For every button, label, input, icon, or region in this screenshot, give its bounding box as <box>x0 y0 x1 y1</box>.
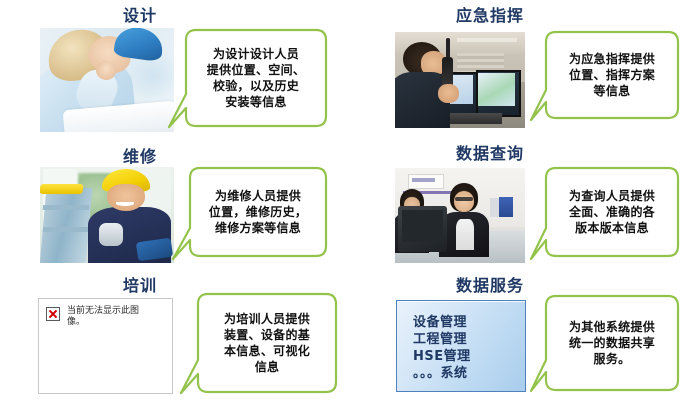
systems-list-item: 工程管理 <box>413 331 525 348</box>
bubble-emergency: 为应急指挥提供 位置、指挥方案 等信息 <box>530 30 680 122</box>
bubble-dataquery: 为查询人员提供 全面、准确的各 版本版本信息 <box>530 166 680 260</box>
bubble-training: 为培训人员提供 装置、设备的基 本信息、可视化 信息 <box>180 292 338 396</box>
broken-image-placeholder-training: 当前无法显示此图像。 <box>38 298 173 394</box>
systems-list-item: 。。。系统 <box>413 365 525 382</box>
bubble-maintenance: 为维修人员提供 位置，维修历史， 维修方案等信息 <box>172 166 328 260</box>
bubble-text-maintenance: 为维修人员提供 位置，维修历史， 维修方案等信息 <box>192 168 324 256</box>
cell-title-emergency: 应急指挥 <box>428 2 552 26</box>
cell-title-design: 设计 <box>78 2 202 26</box>
bubble-text-design: 为设计设计人员 提供位置、空间、 校验，以及历史 安装等信息 <box>188 30 324 126</box>
diagram-canvas: 设计 为设计设计人员 提供位置、空间、 校验，以及历史 安装等信息 应急指挥 为… <box>0 0 681 400</box>
bubble-design: 为设计设计人员 提供位置、空间、 校验，以及历史 安装等信息 <box>168 28 328 130</box>
bubble-text-training: 为培训人员提供 装置、设备的基 本信息、可视化 信息 <box>200 294 334 392</box>
photo-maintenance <box>40 167 174 263</box>
cell-title-dataservice: 数据服务 <box>428 272 552 296</box>
systems-list-item: 设备管理 <box>413 314 525 331</box>
bubble-text-emergency: 为应急指挥提供 位置、指挥方案 等信息 <box>548 32 676 118</box>
photo-emergency <box>395 32 525 128</box>
cell-title-dataquery: 数据查询 <box>428 140 552 164</box>
broken-image-text: 当前无法显示此图像。 <box>67 306 153 328</box>
bubble-dataservice: 为其他系统提供 统一的数据共享 服务。 <box>530 294 680 394</box>
systems-box: 设备管理 工程管理 HSE管理 。。。系统 <box>396 300 526 392</box>
systems-list: 设备管理 工程管理 HSE管理 。。。系统 <box>397 301 525 382</box>
photo-dataquery <box>395 168 525 263</box>
bubble-text-dataservice: 为其他系统提供 统一的数据共享 服务。 <box>548 296 676 390</box>
cell-title-maintenance: 维修 <box>78 143 202 167</box>
systems-list-item: HSE管理 <box>413 348 525 365</box>
photo-design <box>40 28 174 132</box>
bubble-text-dataquery: 为查询人员提供 全面、准确的各 版本版本信息 <box>548 168 676 256</box>
broken-image-icon <box>46 307 60 321</box>
